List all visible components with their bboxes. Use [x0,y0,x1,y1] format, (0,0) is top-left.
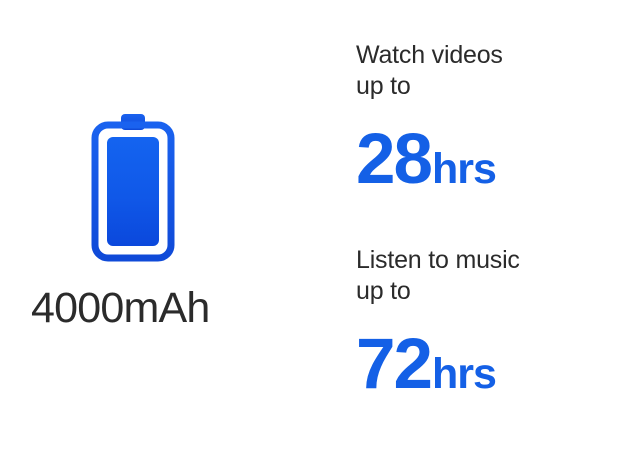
battery-capacity-label: 4000mAh [31,287,291,330]
stat-caption-line-1: Listen to music [356,245,640,276]
battery-panel: 4000mAh [0,0,320,453]
usage-stats-panel: Watch videos up to 28hrs Listen to music… [356,0,640,453]
stat-caption-watch-videos: Watch videos up to [356,40,640,102]
stat-value-listen-music: 72hrs [356,329,640,400]
stat-block-listen-music: Listen to music up to 72hrs [356,245,640,400]
stat-block-watch-videos: Watch videos up to 28hrs [356,40,640,195]
battery-spec-infographic: 4000mAh Watch videos up to 28hrs Listen … [0,0,640,453]
stat-number-watch-videos: 28 [356,120,431,199]
battery-icon-svg [90,112,176,262]
stat-caption-line-1: Watch videos [356,40,640,71]
stat-caption-line-2: up to [356,276,640,307]
stat-caption-line-2: up to [356,71,640,102]
stat-unit-watch-videos: hrs [432,145,496,193]
stat-value-watch-videos: 28hrs [356,124,640,195]
stat-unit-listen-music: hrs [432,350,496,398]
stat-number-listen-music: 72 [356,325,431,404]
battery-full-icon [90,112,176,262]
battery-charge-fill [107,137,159,246]
stat-caption-listen-music: Listen to music up to [356,245,640,307]
